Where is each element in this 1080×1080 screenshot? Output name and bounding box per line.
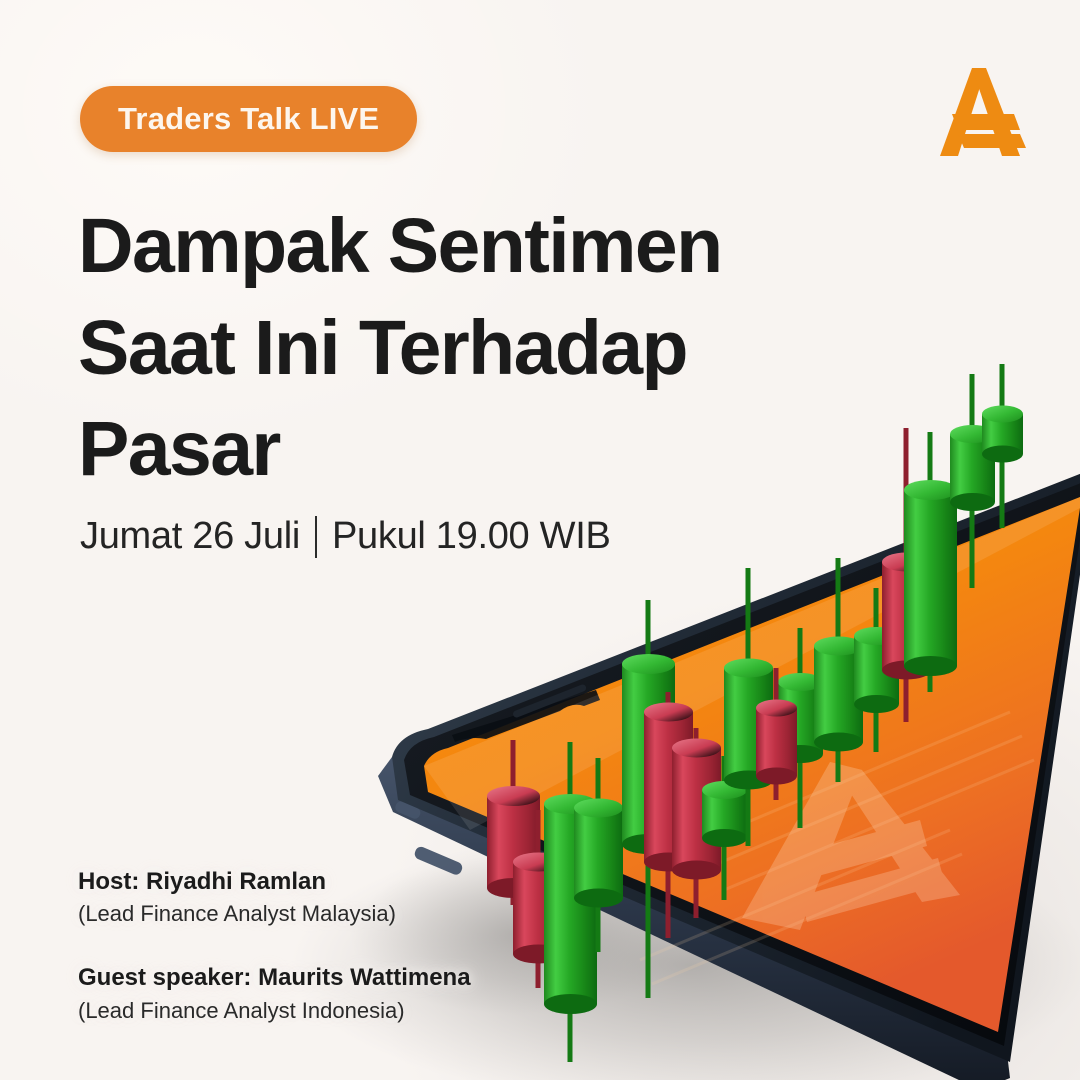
headline-line-3: Pasar (78, 399, 818, 501)
ajaib-a-logo-icon (928, 60, 1038, 160)
schedule-separator (315, 516, 317, 558)
schedule-line: Jumat 26 Juli Pukul 19.00 WIB (80, 515, 611, 558)
schedule-date: Jumat 26 Juli (80, 515, 300, 558)
smartphone-device (378, 470, 1080, 1080)
poster-canvas: Traders Talk LIVE Dampak Sentimen Saat I… (0, 0, 1080, 1080)
credits-block: Host: Riyadhi Ramlan (Lead Finance Analy… (78, 866, 471, 1027)
live-badge-label: Traders Talk LIVE (118, 101, 379, 137)
credit-host: Host: Riyadhi Ramlan (Lead Finance Analy… (78, 866, 471, 930)
credit-guest-role: (Lead Finance Analyst Indonesia) (78, 995, 471, 1027)
credit-guest-name: Guest speaker: Maurits Wattimena (78, 962, 471, 994)
page-title: Dampak Sentimen Saat Ini Terhadap Pasar (78, 196, 818, 501)
headline-line-1: Dampak Sentimen (78, 196, 818, 298)
live-badge[interactable]: Traders Talk LIVE (80, 86, 417, 152)
schedule-time: Pukul 19.00 WIB (332, 515, 611, 558)
credit-guest: Guest speaker: Maurits Wattimena (Lead F… (78, 962, 471, 1026)
headline-line-2: Saat Ini Terhadap (78, 298, 818, 400)
credit-host-role: (Lead Finance Analyst Malaysia) (78, 898, 471, 930)
credit-host-name: Host: Riyadhi Ramlan (78, 866, 471, 898)
